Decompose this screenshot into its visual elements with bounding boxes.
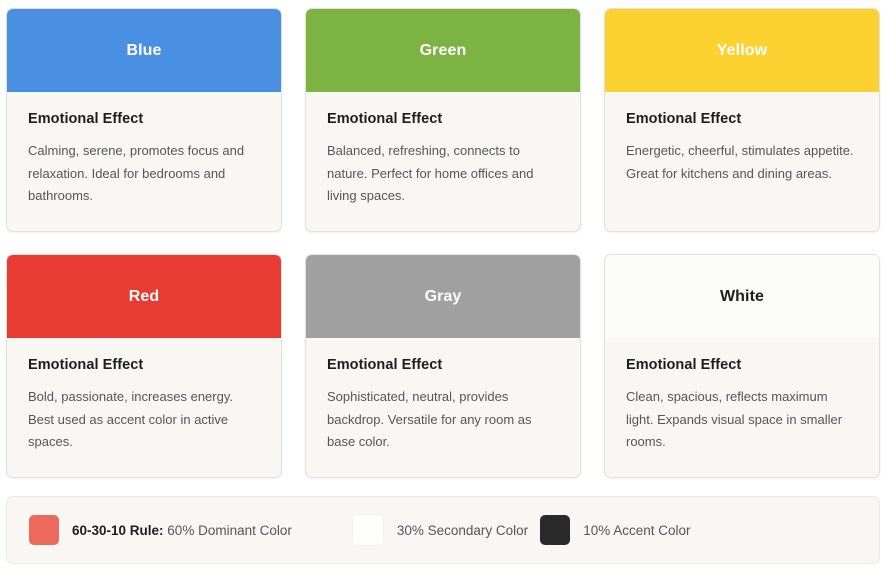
secondary-color-label: 30% Secondary Color — [397, 523, 528, 538]
legend-item-accent: 10% Accent Color — [540, 515, 690, 545]
color-card-gray[interactable]: Gray Emotional Effect Sophisticated, neu… — [305, 254, 581, 478]
color-card-blue[interactable]: Blue Emotional Effect Calming, serene, p… — [6, 8, 282, 232]
color-card-red[interactable]: Red Emotional Effect Bold, passionate, i… — [6, 254, 282, 478]
dominant-color-label: 60-30-10 Rule: 60% Dominant Color — [72, 523, 292, 538]
color-card-green[interactable]: Green Emotional Effect Balanced, refresh… — [305, 8, 581, 232]
color-rule-legend-bar: 60-30-10 Rule: 60% Dominant Color 30% Se… — [6, 496, 880, 564]
card-title: Gray — [425, 288, 462, 306]
card-header-red: Red — [7, 255, 281, 338]
card-header-green: Green — [306, 9, 580, 92]
card-title: White — [720, 288, 764, 306]
color-card-grid: Blue Emotional Effect Calming, serene, p… — [6, 8, 880, 478]
card-header-blue: Blue — [7, 9, 281, 92]
card-title: Red — [129, 288, 160, 306]
card-body: Emotional Effect Sophisticated, neutral,… — [306, 338, 580, 477]
card-description: Bold, passionate, increases energy. Best… — [28, 386, 260, 454]
card-header-white: White — [605, 255, 879, 338]
accent-color-label: 10% Accent Color — [583, 523, 690, 538]
card-title: Yellow — [717, 42, 767, 60]
card-description: Clean, spacious, reflects maximum light.… — [626, 386, 858, 454]
card-title: Blue — [126, 42, 161, 60]
dominant-percent-label: 60% Dominant Color — [164, 523, 292, 538]
card-subtitle: Emotional Effect — [327, 357, 559, 373]
color-card-white[interactable]: White Emotional Effect Clean, spacious, … — [604, 254, 880, 478]
accent-color-swatch — [540, 515, 570, 545]
color-psychology-page: Blue Emotional Effect Calming, serene, p… — [0, 0, 886, 579]
card-subtitle: Emotional Effect — [28, 357, 260, 373]
color-card-yellow[interactable]: Yellow Emotional Effect Energetic, cheer… — [604, 8, 880, 232]
card-body: Emotional Effect Bold, passionate, incre… — [7, 338, 281, 477]
card-subtitle: Emotional Effect — [626, 357, 858, 373]
card-header-yellow: Yellow — [605, 9, 879, 92]
card-description: Energetic, cheerful, stimulates appetite… — [626, 140, 858, 185]
dominant-color-swatch — [29, 515, 59, 545]
card-body: Emotional Effect Calming, serene, promot… — [7, 92, 281, 231]
card-header-gray: Gray — [306, 255, 580, 338]
card-body: Emotional Effect Balanced, refreshing, c… — [306, 92, 580, 231]
card-body: Emotional Effect Clean, spacious, reflec… — [605, 338, 879, 477]
rule-name-label: 60-30-10 Rule: — [72, 523, 164, 538]
legend-item-dominant: 60-30-10 Rule: 60% Dominant Color — [29, 515, 292, 545]
secondary-color-swatch — [352, 514, 384, 546]
card-title: Green — [420, 42, 467, 60]
legend-item-secondary: 30% Secondary Color — [352, 514, 528, 546]
card-body: Emotional Effect Energetic, cheerful, st… — [605, 92, 879, 231]
card-description: Calming, serene, promotes focus and rela… — [28, 140, 260, 208]
card-subtitle: Emotional Effect — [327, 111, 559, 127]
card-description: Sophisticated, neutral, provides backdro… — [327, 386, 559, 454]
card-description: Balanced, refreshing, connects to nature… — [327, 140, 559, 208]
card-subtitle: Emotional Effect — [626, 111, 858, 127]
card-subtitle: Emotional Effect — [28, 111, 260, 127]
